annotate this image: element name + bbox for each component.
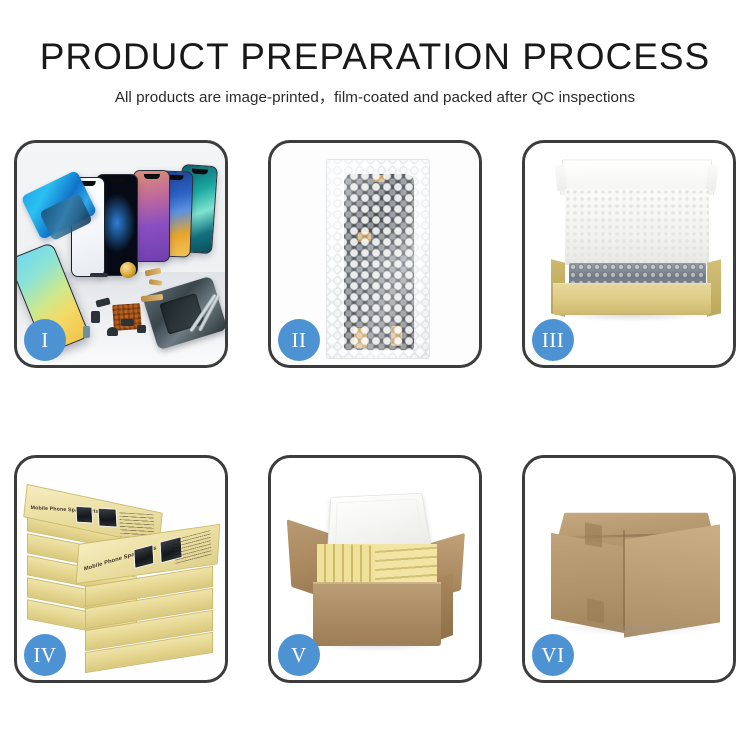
small-part-strip	[90, 273, 108, 277]
process-steps-grid: I II	[14, 140, 736, 683]
process-step-panel-1[interactable]: I	[14, 140, 228, 368]
step-badge-1: I	[24, 319, 66, 361]
carton-tape-lower	[587, 598, 604, 623]
phone-screen-purple	[133, 170, 170, 262]
small-part-speaker	[107, 327, 118, 336]
small-part-chip-b	[91, 311, 100, 323]
step-badge-5: V	[278, 634, 320, 676]
carton-tape-upper	[585, 522, 602, 547]
mailer-box-front-wall	[553, 285, 711, 315]
box-art-screen-b	[98, 508, 118, 528]
step-badge-6: VI	[532, 634, 574, 676]
gold-connector-part	[120, 262, 136, 278]
white-foam-sheet	[565, 189, 709, 265]
process-step-panel-5[interactable]: V	[268, 455, 482, 683]
small-part-camera	[83, 326, 90, 338]
process-step-panel-4[interactable]: Mobile Phone Spare Parts Mobile Phone Sp…	[14, 455, 228, 683]
step-badge-4: IV	[24, 634, 66, 676]
box-art-screen-a	[75, 506, 93, 524]
process-step-panel-3[interactable]: III	[522, 140, 736, 368]
page-subtitle: All products are image-printed，film-coat…	[0, 88, 750, 108]
bubble-wrap-bag	[326, 159, 430, 359]
header: PRODUCT PREPARATION PROCESS All products…	[0, 34, 750, 108]
carton-front-wall	[313, 584, 441, 646]
product-preparation-process-page: PRODUCT PREPARATION PROCESS All products…	[0, 0, 750, 750]
small-part-chip-c	[121, 319, 134, 326]
carton-right-face	[624, 524, 720, 637]
plastic-sheen	[327, 160, 429, 358]
process-step-panel-6[interactable]: VI	[522, 455, 736, 683]
page-title: PRODUCT PREPARATION PROCESS	[0, 34, 750, 80]
process-step-panel-2[interactable]: II	[268, 140, 482, 368]
small-part-chip-d	[137, 325, 146, 333]
step-badge-3: III	[532, 319, 574, 361]
step-badge-2: II	[278, 319, 320, 361]
box-art-screen-c	[133, 544, 154, 569]
